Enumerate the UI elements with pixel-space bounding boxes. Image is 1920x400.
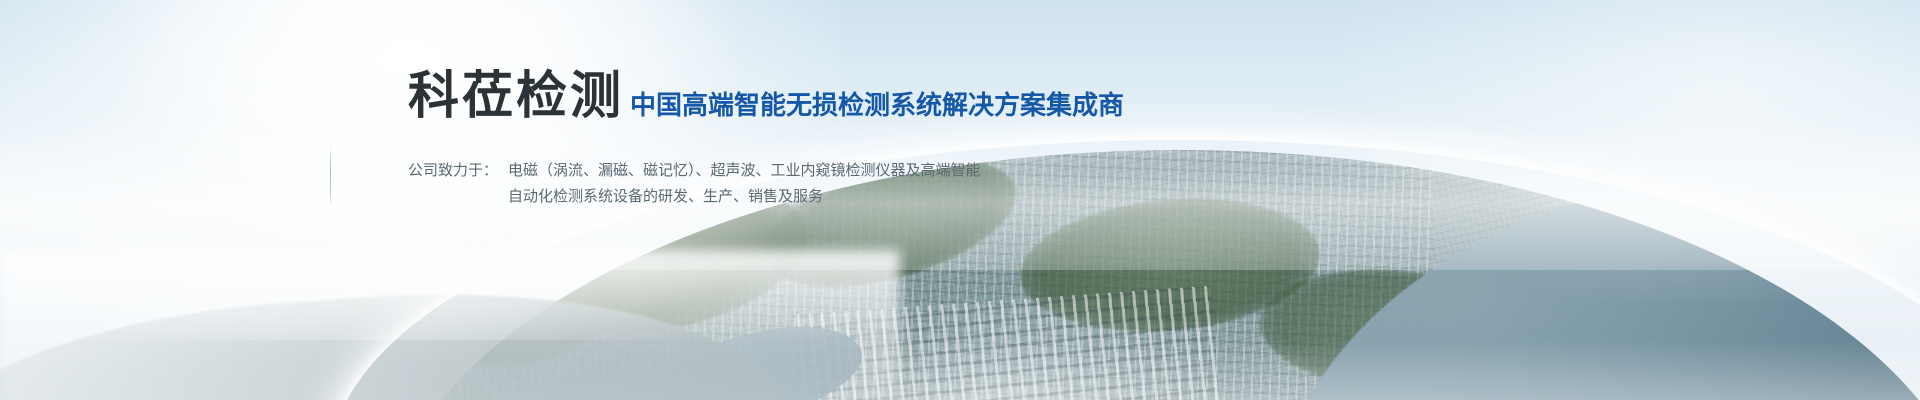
banner-description: 公司致力于： 电磁（涡流、漏磁、磁记忆）、超声波、工业内窥镜检测仪器及高端智能 … [408, 158, 981, 210]
hero-banner: 科莅检测 中国高端智能无损检测系统解决方案集成商 公司致力于： 电磁（涡流、漏磁… [0, 0, 1920, 400]
banner-content: 科莅检测 中国高端智能无损检测系统解决方案集成商 公司致力于： 电磁（涡流、漏磁… [0, 0, 1920, 400]
description-body: 电磁（涡流、漏磁、磁记忆）、超声波、工业内窥镜检测仪器及高端智能 自动化检测系统… [508, 158, 981, 210]
brand-title: 科莅检测 [408, 70, 624, 121]
description-line: 自动化检测系统设备的研发、生产、销售及服务 [508, 184, 981, 210]
description-line: 电磁（涡流、漏磁、磁记忆）、超声波、工业内窥镜检测仪器及高端智能 [508, 158, 981, 184]
description-lead: 公司致力于： [408, 158, 508, 184]
brand-slogan: 中国高端智能无损检测系统解决方案集成商 [630, 92, 1124, 121]
description-divider [330, 146, 331, 206]
banner-headline: 科莅检测 中国高端智能无损检测系统解决方案集成商 [408, 70, 1124, 121]
